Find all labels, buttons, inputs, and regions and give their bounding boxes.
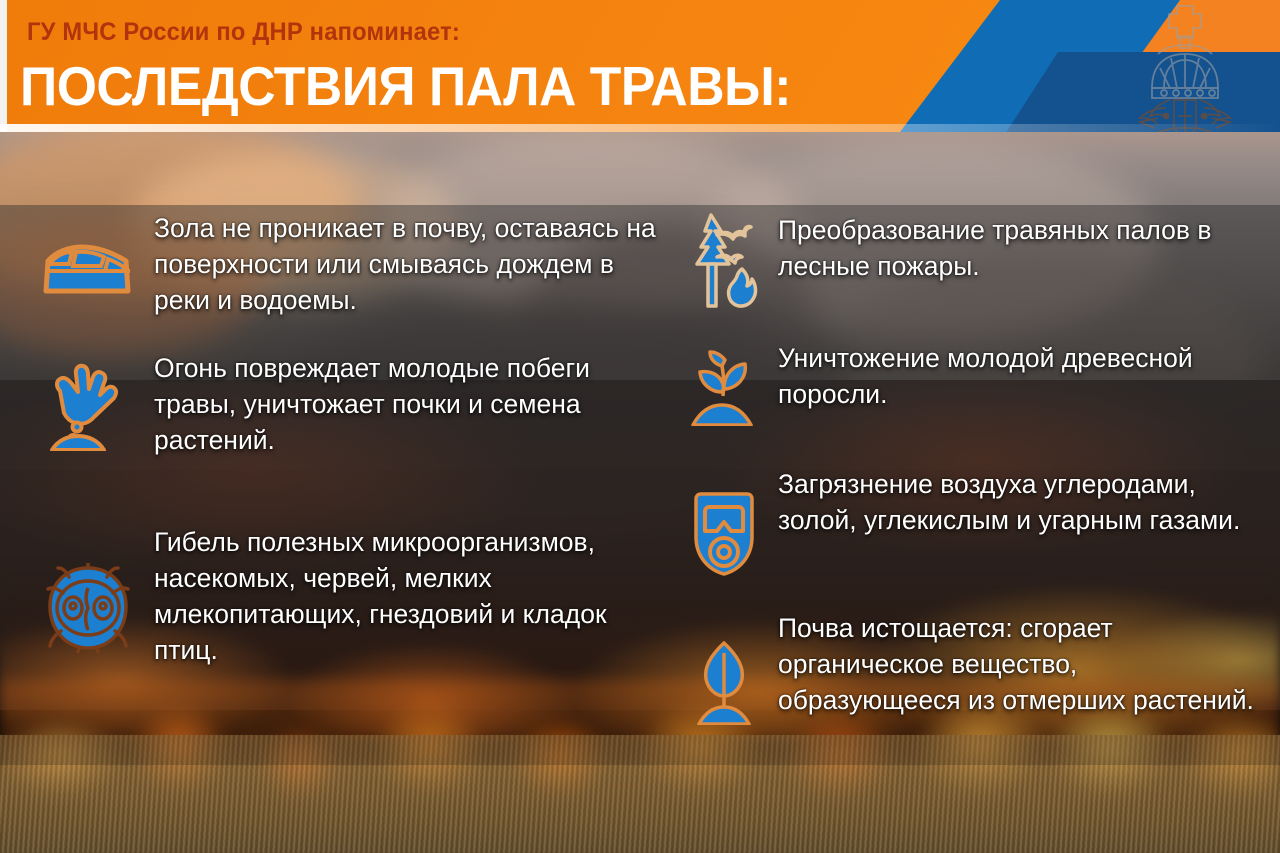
header-left-white-edge <box>0 0 7 132</box>
list-item-text: Преобразование травяных палов в лесные п… <box>778 210 1264 284</box>
leaf-in-soil-icon <box>684 634 764 730</box>
list-item: Огонь повреждает молодые побеги травы, у… <box>40 348 660 458</box>
seedling-sprout-icon <box>684 338 764 434</box>
list-item-text: Загрязнение воздуха углеродами, золой, у… <box>778 464 1264 538</box>
list-item-text: Почва истощается: сгорает органическое в… <box>778 608 1264 718</box>
infographic-poster: ГУ МЧС России по ДНР напоминает: ПОСЛЕДС… <box>0 0 1280 853</box>
poster-header: ГУ МЧС России по ДНР напоминает: ПОСЛЕДС… <box>0 0 1280 132</box>
list-item-text: Уничтожение молодой древесной поросли. <box>778 338 1264 412</box>
microorganism-cell-icon <box>40 560 136 656</box>
hand-sowing-seeds-icon <box>40 355 136 451</box>
list-item: Уничтожение молодой древесной поросли. <box>684 338 1264 434</box>
list-item: Загрязнение воздуха углеродами, золой, у… <box>684 464 1264 582</box>
list-item: Гибель полезных микроорганизмов, насеком… <box>40 522 660 668</box>
soil-ash-layer-icon <box>40 218 136 314</box>
list-item: Преобразование травяных палов в лесные п… <box>684 210 1264 308</box>
list-item-text: Огонь повреждает молодые побеги травы, у… <box>154 348 660 458</box>
list-item-text: Зола не проникает в почву, оставаясь на … <box>154 208 660 318</box>
gas-mask-icon <box>684 486 764 582</box>
header-subtitle: ГУ МЧС России по ДНР напоминает: <box>27 18 460 47</box>
list-item: Почва истощается: сгорает органическое в… <box>684 608 1264 730</box>
header-bottom-white-edge <box>0 124 1280 132</box>
list-item-text: Гибель полезных микроорганизмов, насеком… <box>154 522 660 668</box>
burning-forest-tree-icon <box>684 212 764 308</box>
list-item: Зола не проникает в почву, оставаясь на … <box>40 208 660 318</box>
left-consequences-column: Зола не проникает в почву, оставаясь на … <box>40 206 660 694</box>
mchs-double-headed-eagle-emblem <box>1092 0 1278 132</box>
right-consequences-column: Преобразование травяных палов в лесные п… <box>684 206 1264 756</box>
page-title: ПОСЛЕДСТВИЯ ПАЛА ТРАВЫ: <box>20 55 791 117</box>
